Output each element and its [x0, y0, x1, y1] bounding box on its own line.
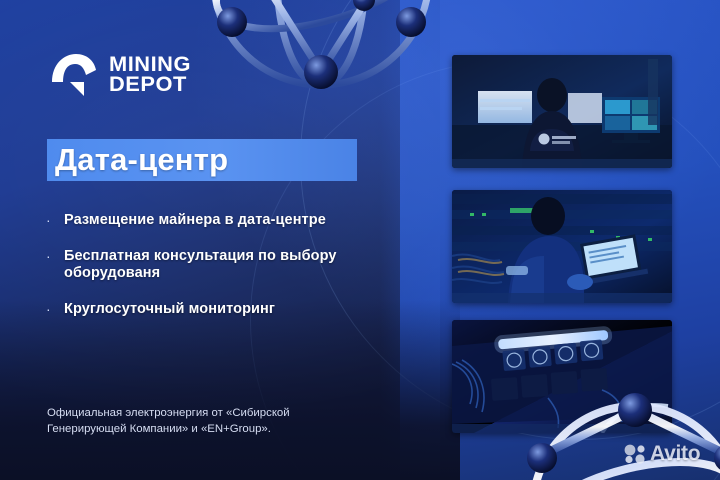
mining-depot-arc-mark: [50, 52, 98, 98]
footer-note: Официальная электроэнергия от «Сибирской…: [47, 406, 367, 437]
brand-wordmark: MINING DEPOT: [109, 55, 188, 94]
page-title: Дата-центр: [55, 138, 355, 182]
list-item: · Размещение майнера в дата-центре: [46, 212, 396, 229]
wireframe-sphere-icon: [520, 396, 720, 480]
list-item-label: Бесплатная консультация по выбору оборуд…: [64, 248, 396, 282]
brand-line-2: DEPOT: [109, 75, 191, 95]
photo-technician-racks: [452, 190, 672, 303]
list-item: · Круглосуточный мониторинг: [46, 301, 396, 318]
brand-logo: MINING DEPOT: [50, 52, 188, 98]
list-item-label: Круглосуточный мониторинг: [64, 301, 275, 318]
bullet-marker: ·: [46, 301, 54, 318]
feature-list: · Размещение майнера в дата-центре · Бес…: [46, 212, 396, 337]
avito-watermark: Avito: [624, 442, 700, 466]
avito-dots-icon: [624, 444, 646, 464]
footer-line-1: Официальная электроэнергия от «Сибирской: [47, 406, 367, 422]
list-item-label: Размещение майнера в дата-центре: [64, 212, 326, 229]
wireframe-sphere-icon: [196, 0, 446, 112]
avito-watermark-label: Avito: [650, 442, 700, 466]
footer-line-2: Генерирующей Компании» и «EN+Group».: [47, 422, 367, 438]
bullet-marker: ·: [46, 248, 54, 282]
photo-monitoring-operator: [452, 55, 672, 168]
promo-banner: MINING DEPOT Дата-центр · Размещение май…: [0, 0, 720, 480]
bullet-marker: ·: [46, 212, 54, 229]
list-item: · Бесплатная консультация по выбору обор…: [46, 248, 396, 282]
